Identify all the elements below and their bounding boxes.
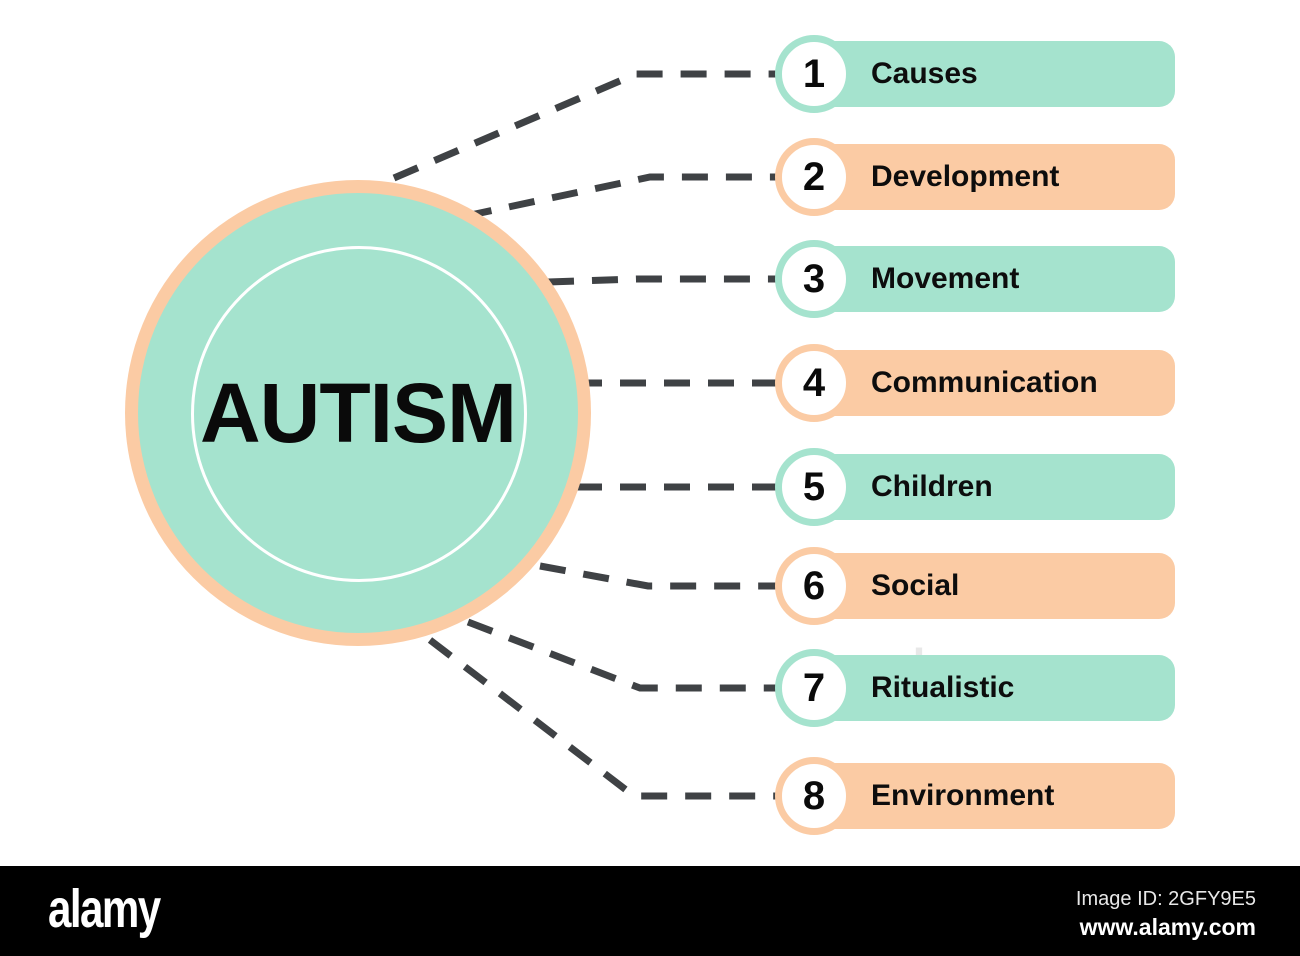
footer-meta: Image ID: 2GFY9E5 www.alamy.com bbox=[1076, 886, 1256, 943]
item-badge-5[interactable]: 5 bbox=[775, 448, 853, 526]
item-row-3[interactable]: 3 Movement bbox=[775, 240, 1175, 318]
center-node[interactable]: AUTISM bbox=[125, 180, 591, 646]
item-label-4: Communication bbox=[871, 344, 1098, 422]
item-label-1: Causes bbox=[871, 35, 978, 113]
item-row-4[interactable]: 4 Communication bbox=[775, 344, 1175, 422]
item-badge-4[interactable]: 4 bbox=[775, 344, 853, 422]
connector-line-6 bbox=[540, 566, 776, 586]
center-node-label: AUTISM bbox=[200, 371, 516, 455]
item-number-4: 4 bbox=[803, 363, 825, 403]
item-badge-7[interactable]: 7 bbox=[775, 649, 853, 727]
connector-line-2 bbox=[466, 177, 776, 216]
item-badge-2[interactable]: 2 bbox=[775, 138, 853, 216]
item-label-2: Development bbox=[871, 138, 1059, 216]
item-number-1: 1 bbox=[803, 54, 825, 94]
connector-line-1 bbox=[394, 74, 776, 178]
item-label-5: Children bbox=[871, 448, 993, 526]
item-label-7: Ritualistic bbox=[871, 649, 1014, 727]
item-label-8: Environment bbox=[871, 757, 1054, 835]
item-row-1[interactable]: 1 Causes bbox=[775, 35, 1175, 113]
item-row-6[interactable]: 6 Social bbox=[775, 547, 1175, 625]
alamy-logo: alamy bbox=[48, 882, 160, 936]
item-row-5[interactable]: 5 Children bbox=[775, 448, 1175, 526]
alamy-url: www.alamy.com bbox=[1076, 913, 1256, 943]
item-badge-1[interactable]: 1 bbox=[775, 35, 853, 113]
item-badge-6[interactable]: 6 bbox=[775, 547, 853, 625]
item-badge-8[interactable]: 8 bbox=[775, 757, 853, 835]
item-number-3: 3 bbox=[803, 259, 825, 299]
item-label-3: Movement bbox=[871, 240, 1019, 318]
item-number-6: 6 bbox=[803, 566, 825, 606]
item-label-6: Social bbox=[871, 547, 959, 625]
item-number-5: 5 bbox=[803, 467, 825, 507]
item-row-8[interactable]: 8 Environment bbox=[775, 757, 1175, 835]
item-row-2[interactable]: 2 Development bbox=[775, 138, 1175, 216]
screenshot-root: alamy a a a a a a alamy a a alamy alamy … bbox=[0, 0, 1300, 956]
diagram-canvas: alamy a a a a a a alamy a a alamy alamy … bbox=[0, 0, 1300, 866]
footer-bar: alamy Image ID: 2GFY9E5 www.alamy.com bbox=[0, 866, 1300, 956]
connector-line-8 bbox=[430, 640, 776, 796]
item-number-8: 8 bbox=[803, 776, 825, 816]
image-id-text: Image ID: 2GFY9E5 bbox=[1076, 886, 1256, 913]
item-number-7: 7 bbox=[803, 668, 825, 708]
item-badge-3[interactable]: 3 bbox=[775, 240, 853, 318]
connector-line-3 bbox=[548, 279, 776, 282]
item-number-2: 2 bbox=[803, 157, 825, 197]
item-row-7[interactable]: 7 Ritualistic bbox=[775, 649, 1175, 727]
connector-line-7 bbox=[468, 622, 776, 688]
